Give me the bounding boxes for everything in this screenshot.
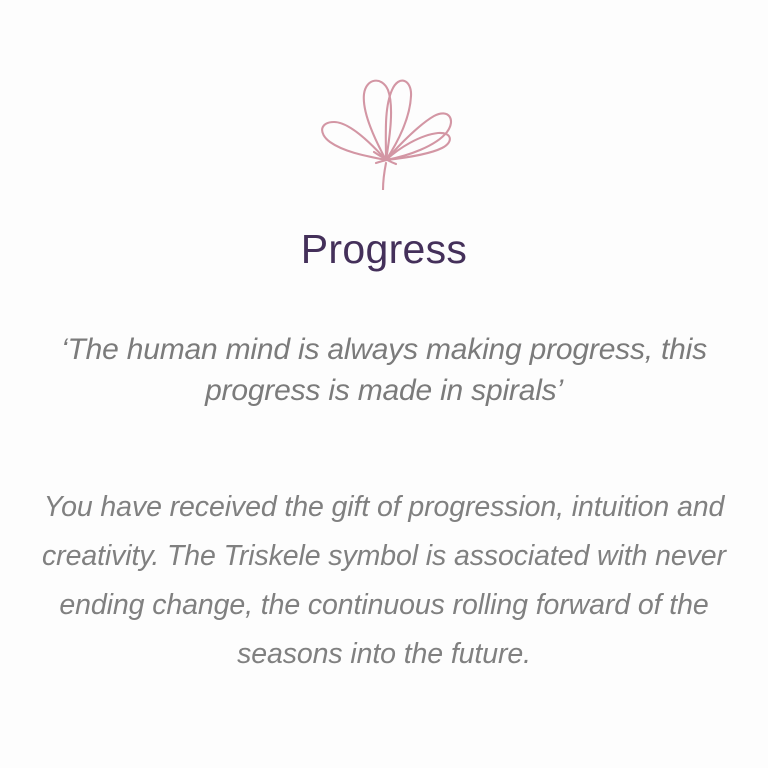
description-text: You have received the gift of progressio…	[34, 483, 734, 679]
quote-text: ‘The human mind is always making progres…	[39, 329, 729, 412]
page-title: Progress	[301, 228, 467, 271]
lotus-flower-line-drawing-icon	[304, 60, 464, 190]
progress-card: Progress ‘The human mind is always makin…	[0, 0, 768, 768]
